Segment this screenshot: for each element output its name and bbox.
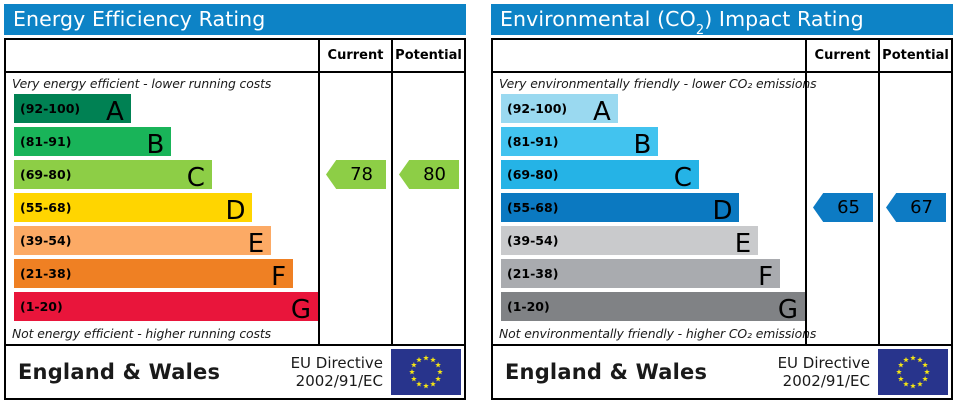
rating-table: CurrentPotentialVery energy efficient - …	[4, 38, 466, 400]
band-b: (81-91)B	[501, 127, 658, 156]
band-letter: A	[593, 99, 611, 125]
band-f: (21-38)F	[501, 259, 780, 288]
band-letter: B	[147, 132, 165, 158]
band-letter: E	[248, 231, 264, 257]
eu-flag	[391, 349, 461, 395]
band-letter: E	[735, 231, 751, 257]
chart-title: Environmental (CO2) Impact Rating	[491, 4, 953, 35]
band-d: (55-68)D	[14, 193, 252, 222]
band-letter: D	[225, 198, 245, 224]
potential-rating-arrow: 67	[886, 193, 946, 222]
region-label: England & Wales	[6, 360, 291, 384]
band-c: (69-80)C	[501, 160, 699, 189]
region-label: England & Wales	[493, 360, 778, 384]
rating-table: CurrentPotentialVery environmentally fri…	[491, 38, 953, 400]
column-header-current: Current	[318, 40, 391, 71]
header-spacer	[6, 40, 318, 71]
band-range: (81-91)	[14, 134, 71, 149]
column-header-potential: Potential	[878, 40, 951, 71]
band-b: (81-91)B	[14, 127, 171, 156]
band-range: (92-100)	[14, 101, 80, 116]
column-header-current: Current	[805, 40, 878, 71]
band-e: (39-54)E	[501, 226, 758, 255]
band-range: (69-80)	[14, 167, 71, 182]
band-e: (39-54)E	[14, 226, 271, 255]
eu-directive-label: EU Directive2002/91/EC	[291, 354, 391, 390]
band-g: (1-20)G	[14, 292, 318, 321]
eu-directive-label: EU Directive2002/91/EC	[778, 354, 878, 390]
band-g: (1-20)G	[501, 292, 805, 321]
potential-value-column: 80	[391, 73, 464, 344]
band-c: (69-80)C	[14, 160, 212, 189]
band-range: (1-20)	[14, 299, 63, 314]
band-d: (55-68)D	[501, 193, 739, 222]
band-bars: (92-100)A(81-91)B(69-80)C(55-68)D(39-54)…	[6, 93, 318, 322]
chart-co2-impact: Environmental (CO2) Impact RatingCurrent…	[487, 0, 957, 404]
table-header-row: CurrentPotential	[6, 40, 464, 73]
column-header-potential: Potential	[391, 40, 464, 71]
chart-title-text-suffix: ) Impact Rating	[704, 7, 864, 31]
band-letter: B	[634, 132, 652, 158]
caption-bottom: Not environmentally friendly - higher CO…	[493, 322, 805, 344]
chart-title: Energy Efficiency Rating	[4, 4, 466, 35]
bands-column: Very energy efficient - lower running co…	[6, 73, 318, 344]
eu-flag	[878, 349, 948, 395]
band-range: (55-68)	[501, 200, 558, 215]
co2-subscript: 2	[696, 23, 704, 35]
band-letter: G	[778, 297, 798, 323]
caption-bottom: Not energy efficient - higher running co…	[6, 322, 318, 344]
table-header-row: CurrentPotential	[493, 40, 951, 73]
directive-line-2: 2002/91/EC	[778, 372, 870, 390]
caption-top: Very environmentally friendly - lower CO…	[493, 73, 805, 93]
current-value-column: 65	[805, 73, 878, 344]
band-bars: (92-100)A(81-91)B(69-80)C(55-68)D(39-54)…	[493, 93, 805, 322]
band-range: (55-68)	[14, 200, 71, 215]
directive-line-2: 2002/91/EC	[291, 372, 383, 390]
current-rating-arrow: 78	[326, 160, 386, 189]
band-letter: G	[291, 297, 311, 323]
current-rating-arrow: 65	[813, 193, 873, 222]
band-range: (1-20)	[501, 299, 550, 314]
bands-column: Very environmentally friendly - lower CO…	[493, 73, 805, 344]
potential-value-column: 67	[878, 73, 951, 344]
band-range: (69-80)	[501, 167, 558, 182]
chart-energy-efficiency: Energy Efficiency RatingCurrentPotential…	[0, 0, 470, 404]
table-body-row: Very energy efficient - lower running co…	[6, 73, 464, 346]
footer-row: England & WalesEU Directive2002/91/EC	[6, 346, 464, 398]
band-range: (21-38)	[501, 266, 558, 281]
band-range: (21-38)	[14, 266, 71, 281]
potential-rating-arrow: 80	[399, 160, 459, 189]
chart-title-text: Environmental (CO	[500, 7, 696, 31]
caption-top: Very energy efficient - lower running co…	[6, 73, 318, 93]
band-letter: C	[674, 165, 692, 191]
table-body-row: Very environmentally friendly - lower CO…	[493, 73, 951, 346]
band-range: (39-54)	[501, 233, 558, 248]
band-range: (39-54)	[14, 233, 71, 248]
header-spacer	[493, 40, 805, 71]
epc-charts-page: Energy Efficiency RatingCurrentPotential…	[0, 0, 957, 404]
band-letter: C	[187, 165, 205, 191]
band-a: (92-100)A	[501, 94, 618, 123]
band-letter: F	[271, 264, 286, 290]
directive-line-1: EU Directive	[291, 354, 383, 372]
band-letter: A	[106, 99, 124, 125]
band-letter: D	[712, 198, 732, 224]
current-value-column: 78	[318, 73, 391, 344]
band-range: (92-100)	[501, 101, 567, 116]
band-f: (21-38)F	[14, 259, 293, 288]
directive-line-1: EU Directive	[778, 354, 870, 372]
band-a: (92-100)A	[14, 94, 131, 123]
footer-row: England & WalesEU Directive2002/91/EC	[493, 346, 951, 398]
band-range: (81-91)	[501, 134, 558, 149]
band-letter: F	[758, 264, 773, 290]
